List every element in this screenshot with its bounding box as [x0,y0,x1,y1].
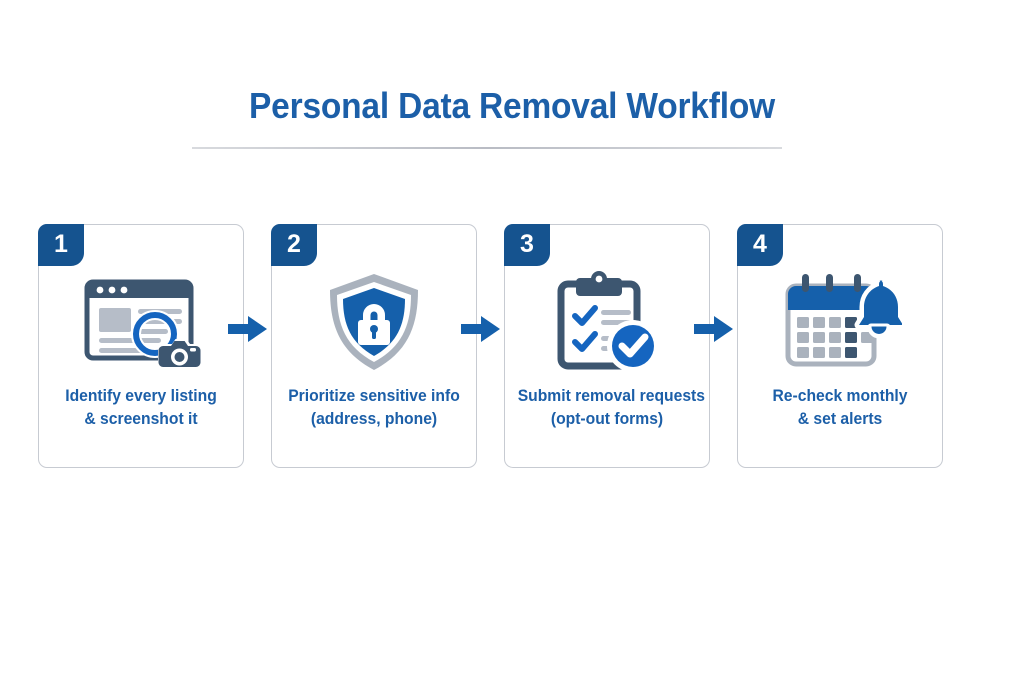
steps-row: 1 [38,224,986,470]
step-caption-2-line1: Prioritize sensitive info [285,385,464,408]
step-card-2[interactable]: 2 Prioriti [271,224,477,468]
step-card-1[interactable]: 1 [38,224,244,468]
workflow-diagram: Personal Data Removal Workflow 1 [0,0,1024,683]
page-title: Personal Data Removal Workflow [36,86,988,126]
step-number-badge-2: 2 [271,224,317,266]
step-caption-1-line2: & screenshot it [52,408,231,431]
shield-lock-icon [272,267,476,377]
clipboard-checklist-approved-icon [505,267,709,377]
step-card-4[interactable]: 4 [737,224,943,468]
step-caption-3-line1: Submit removal requests [518,385,697,408]
browser-window-search-camera-icon [39,267,243,377]
title-divider [192,147,782,149]
step-caption-4-line1: Re-check monthly [751,385,930,408]
step-caption-2: Prioritize sensitive info (address, phon… [285,385,464,432]
step-card-3[interactable]: 3 [504,224,710,468]
step-caption-1: Identify every listing & screenshot it [52,385,231,432]
calendar-bell-icon [738,267,942,377]
arrow-step-2-to-3 [461,315,501,343]
step-caption-3-line2: (opt-out forms) [518,408,697,431]
arrow-step-3-to-4 [694,315,734,343]
step-caption-2-line2: (address, phone) [285,408,464,431]
step-caption-4: Re-check monthly & set alerts [751,385,930,432]
arrow-step-1-to-2 [228,315,268,343]
step-caption-4-line2: & set alerts [751,408,930,431]
step-number-badge-3: 3 [504,224,550,266]
step-caption-3: Submit removal requests (opt-out forms) [518,385,697,432]
step-caption-1-line1: Identify every listing [52,385,231,408]
step-number-badge-4: 4 [737,224,783,266]
step-number-badge-1: 1 [38,224,84,266]
title-block: Personal Data Removal Workflow [0,86,1024,126]
